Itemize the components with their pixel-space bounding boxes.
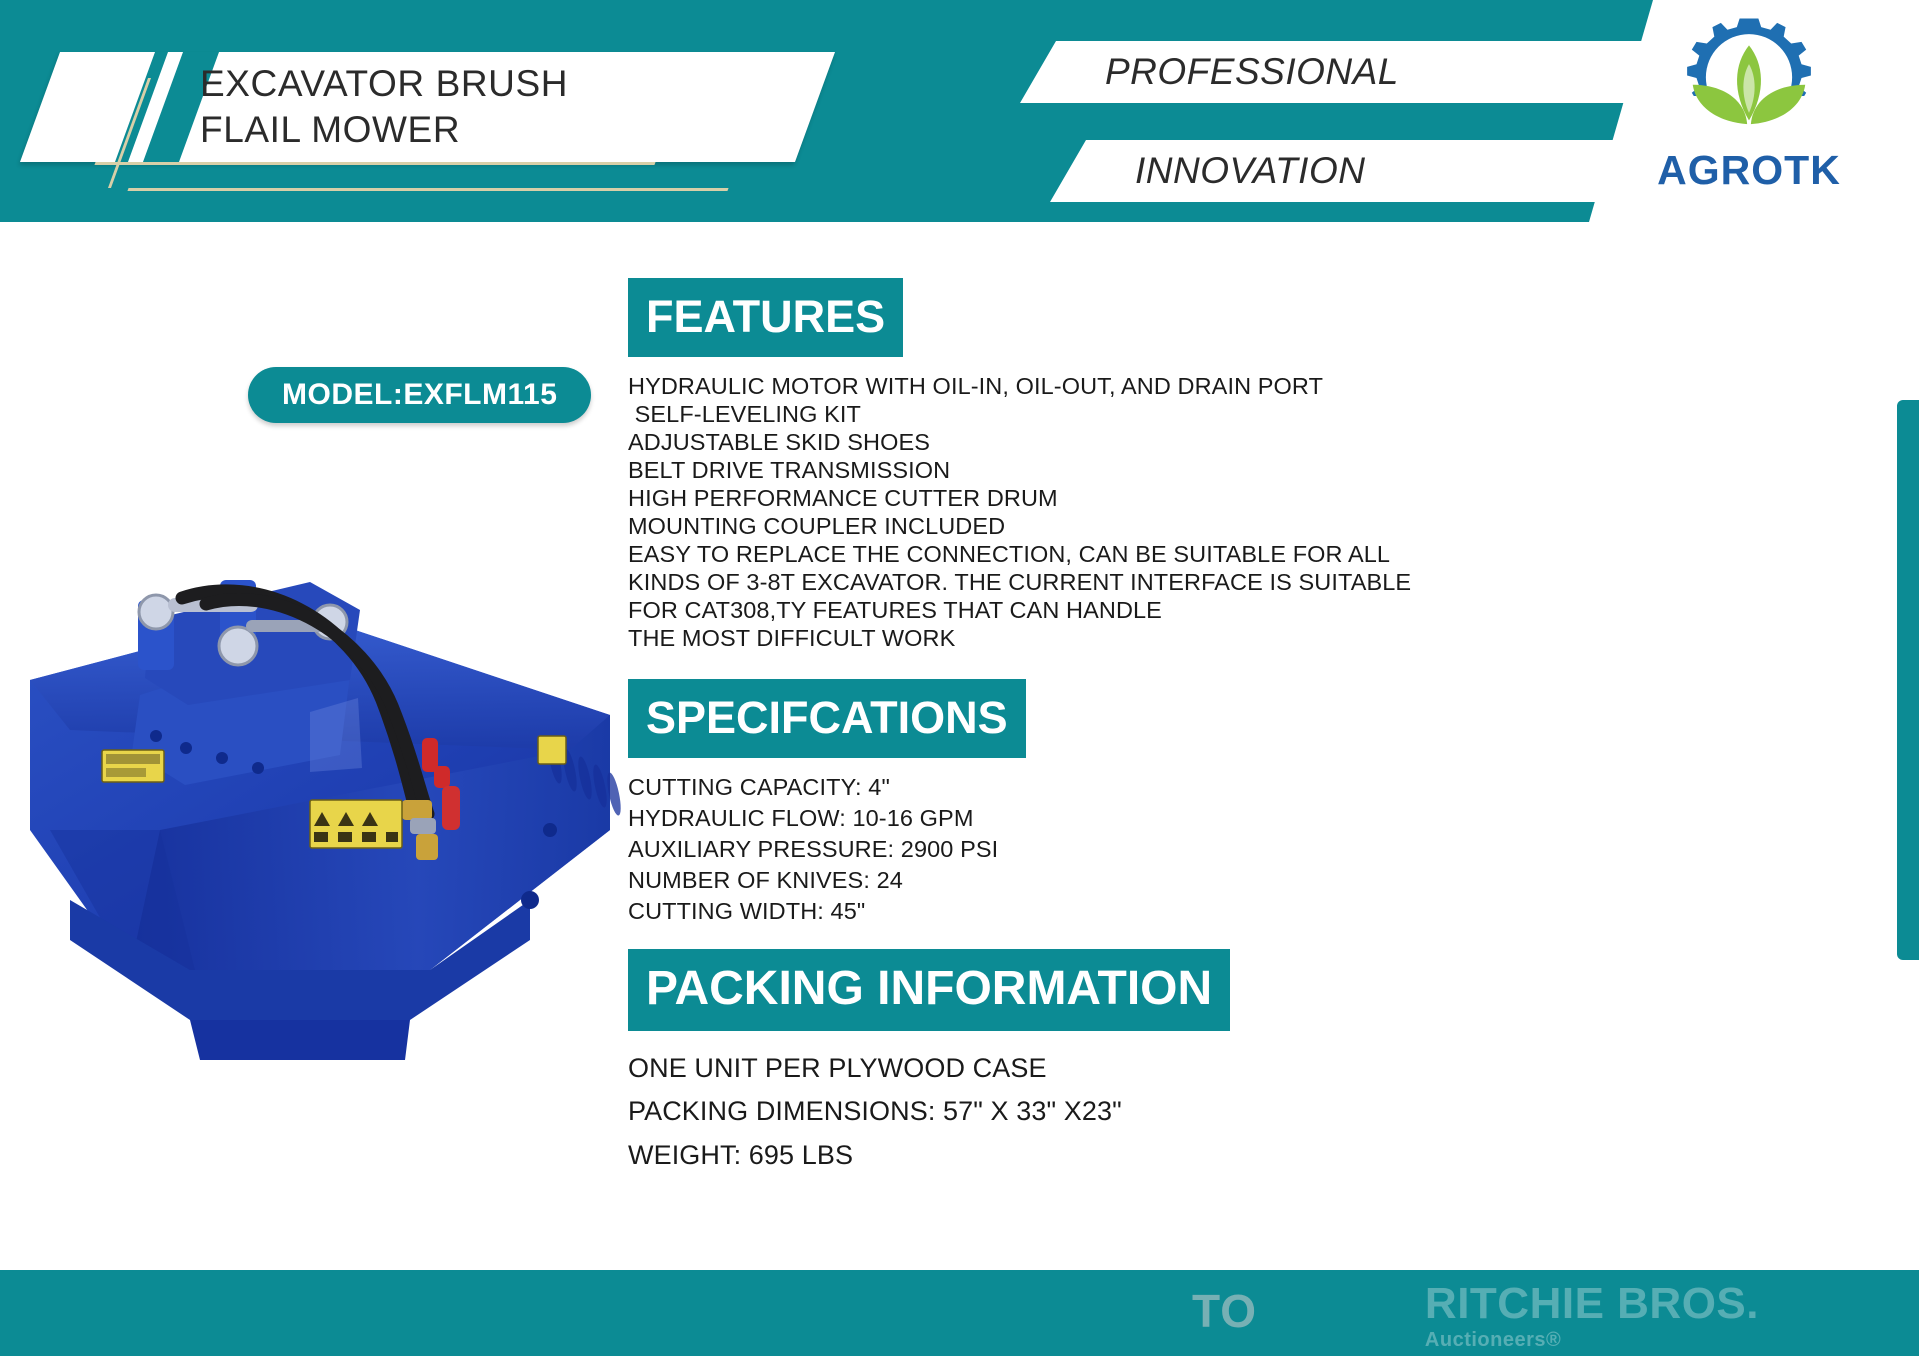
right-edge-tab [1897, 400, 1919, 960]
specification-line: AUXILIARY PRESSURE: 2900 PSI [628, 834, 1348, 865]
specification-line: CUTTING WIDTH: 45" [628, 896, 1348, 927]
model-badge: MODEL:EXFLM115 [248, 367, 591, 423]
title-gold-line-1 [94, 162, 655, 165]
features-line: BELT DRIVE TRANSMISSION [628, 457, 1348, 485]
watermark-main-text: RITCHIE BROS. [1425, 1282, 1759, 1326]
tagline-innovation-label: INNOVATION [1135, 150, 1365, 192]
title-gold-line-2 [127, 188, 728, 191]
specifications-heading: SPECIFCATIONS [628, 679, 1026, 758]
product-photo [10, 500, 640, 1070]
features-line: HYDRAULIC MOTOR WITH OIL-IN, OIL-OUT, AN… [628, 373, 1348, 401]
features-line: MOUNTING COUPLER INCLUDED [628, 513, 1348, 541]
features-line: SELF-LEVELING KIT [628, 401, 1348, 429]
specification-line: HYDRAULIC FLOW: 10-16 GPM [628, 803, 1348, 834]
features-line: HIGH PERFORMANCE CUTTER DRUM [628, 485, 1348, 513]
specifications-list: CUTTING CAPACITY: 4" HYDRAULIC FLOW: 10-… [628, 772, 1348, 927]
page-title: EXCAVATOR BRUSH FLAIL MOWER [200, 57, 840, 157]
features-heading: FEATURES [628, 278, 903, 357]
gear-leaf-logo-icon [1654, 6, 1844, 156]
page-title-line-2: FLAIL MOWER [200, 107, 840, 153]
packing-line: WEIGHT: 695 LBS [628, 1134, 1348, 1178]
packing-line: PACKING DIMENSIONS: 57" X 33" X23" [628, 1090, 1348, 1134]
brand-logo: AGROTK [1599, 6, 1899, 218]
spec-sheet-column: FEATURES HYDRAULIC MOTOR WITH OIL-IN, OI… [628, 278, 1348, 1178]
features-line: FOR CAT308,TY FEATURES THAT CAN HANDLE [628, 597, 1348, 625]
watermark-left-text: TO [1192, 1288, 1257, 1334]
ritchie-bros-watermark: RITCHIE BROS. Auctioneers® [1425, 1282, 1759, 1350]
features-list: HYDRAULIC MOTOR WITH OIL-IN, OIL-OUT, AN… [628, 373, 1348, 653]
features-line: ADJUSTABLE SKID SHOES [628, 429, 1348, 457]
page-footer: TO RITCHIE BROS. Auctioneers® [0, 1270, 1919, 1356]
features-line: THE MOST DIFFICULT WORK [628, 625, 1348, 653]
packing-heading: PACKING INFORMATION [628, 949, 1230, 1031]
packing-line: ONE UNIT PER PLYWOOD CASE [628, 1047, 1348, 1091]
features-line: EASY TO REPLACE THE CONNECTION, CAN BE S… [628, 541, 1348, 569]
watermark-sub-text: Auctioneers® [1425, 1330, 1759, 1350]
packing-list: ONE UNIT PER PLYWOOD CASE PACKING DIMENS… [628, 1047, 1348, 1178]
features-line: KINDS OF 3-8T EXCAVATOR. THE CURRENT INT… [628, 569, 1348, 597]
brand-name: AGROTK [1657, 150, 1841, 191]
page-title-line-1: EXCAVATOR BRUSH [200, 61, 840, 107]
specification-line: NUMBER OF KNIVES: 24 [628, 865, 1348, 896]
page-header: EXCAVATOR BRUSH FLAIL MOWER PROFESSIONAL… [0, 0, 1919, 222]
specification-line: CUTTING CAPACITY: 4" [628, 772, 1348, 803]
tagline-professional-label: PROFESSIONAL [1105, 51, 1399, 93]
